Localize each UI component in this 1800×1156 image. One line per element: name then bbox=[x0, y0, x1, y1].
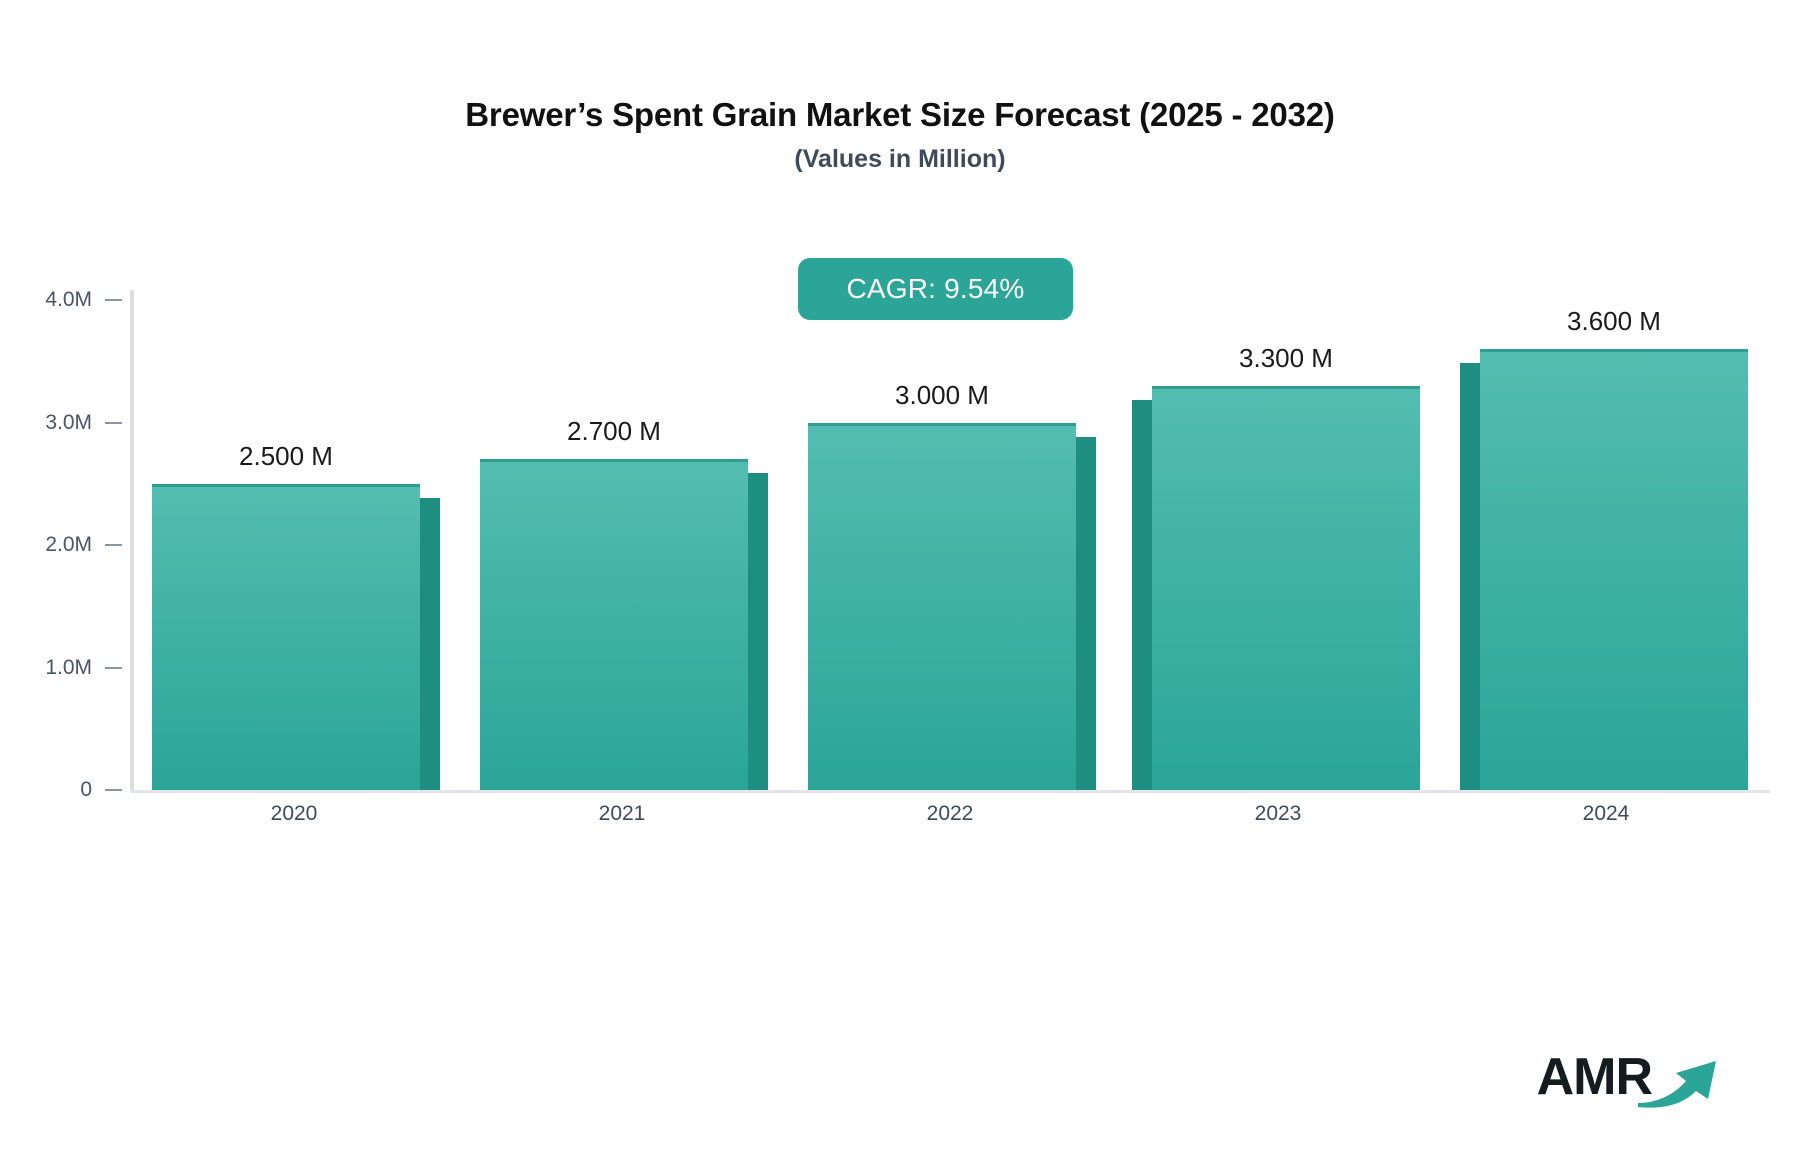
bar-value-label: 3.300 M bbox=[1239, 343, 1333, 374]
bar: 2.500 M bbox=[152, 484, 420, 790]
bar-front-face bbox=[152, 484, 420, 790]
y-axis-tick-mark bbox=[105, 544, 122, 546]
bar-value-label: 2.500 M bbox=[239, 441, 333, 472]
x-axis-category-label: 2023 bbox=[1255, 802, 1302, 826]
y-axis-tick-mark bbox=[105, 667, 122, 669]
bar-front-face bbox=[808, 423, 1076, 791]
chart-subtitle: (Values in Million) bbox=[0, 145, 1800, 174]
y-axis-tick-label: 4.0M bbox=[0, 288, 92, 312]
bar-value-label: 3.000 M bbox=[895, 380, 989, 411]
plot-area: 4.0M3.0M2.0M1.0M0 2.500 M2.700 M3.000 M3… bbox=[130, 290, 1770, 793]
y-axis-tick-mark bbox=[105, 422, 122, 424]
bar-value-label: 3.600 M bbox=[1567, 306, 1661, 337]
x-axis-category-label: 2024 bbox=[1583, 802, 1630, 826]
x-axis-line bbox=[130, 790, 1770, 793]
y-axis-tick-label: 3.0M bbox=[0, 411, 92, 435]
bar-side-face bbox=[1132, 400, 1152, 790]
bar-front-face bbox=[1152, 386, 1420, 790]
bar-side-face bbox=[420, 498, 440, 790]
bar-side-face bbox=[1460, 363, 1480, 790]
x-axis-category-label: 2021 bbox=[599, 802, 646, 826]
chart-page: Brewer’s Spent Grain Market Size Forecas… bbox=[0, 0, 1800, 1156]
amr-logo: AMR bbox=[1537, 1045, 1722, 1108]
x-axis-category-label: 2022 bbox=[927, 802, 974, 826]
y-axis-tick-mark bbox=[105, 789, 122, 791]
bar-side-face bbox=[748, 473, 768, 790]
page-title: Brewer’s Spent Grain Market Size Forecas… bbox=[0, 96, 1800, 134]
bar-value-label: 2.700 M bbox=[567, 416, 661, 447]
bar: 3.600 M bbox=[1480, 349, 1748, 790]
y-axis-tick-label: 2.0M bbox=[0, 533, 92, 557]
bar-front-face bbox=[1480, 349, 1748, 790]
x-axis-category-label: 2020 bbox=[271, 802, 318, 826]
bar: 3.000 M bbox=[808, 423, 1076, 791]
y-axis-tick-mark bbox=[105, 299, 122, 301]
trending-up-arrow-icon bbox=[1636, 1045, 1722, 1114]
bar: 2.700 M bbox=[480, 459, 748, 790]
y-axis-line bbox=[130, 290, 134, 793]
logo-text: AMR bbox=[1537, 1051, 1652, 1103]
bar-front-face bbox=[480, 459, 748, 790]
bar-side-face bbox=[1076, 437, 1096, 791]
y-axis-tick-label: 1.0M bbox=[0, 656, 92, 680]
y-axis-tick-label: 0 bbox=[0, 778, 92, 802]
bar: 3.300 M bbox=[1152, 386, 1420, 790]
